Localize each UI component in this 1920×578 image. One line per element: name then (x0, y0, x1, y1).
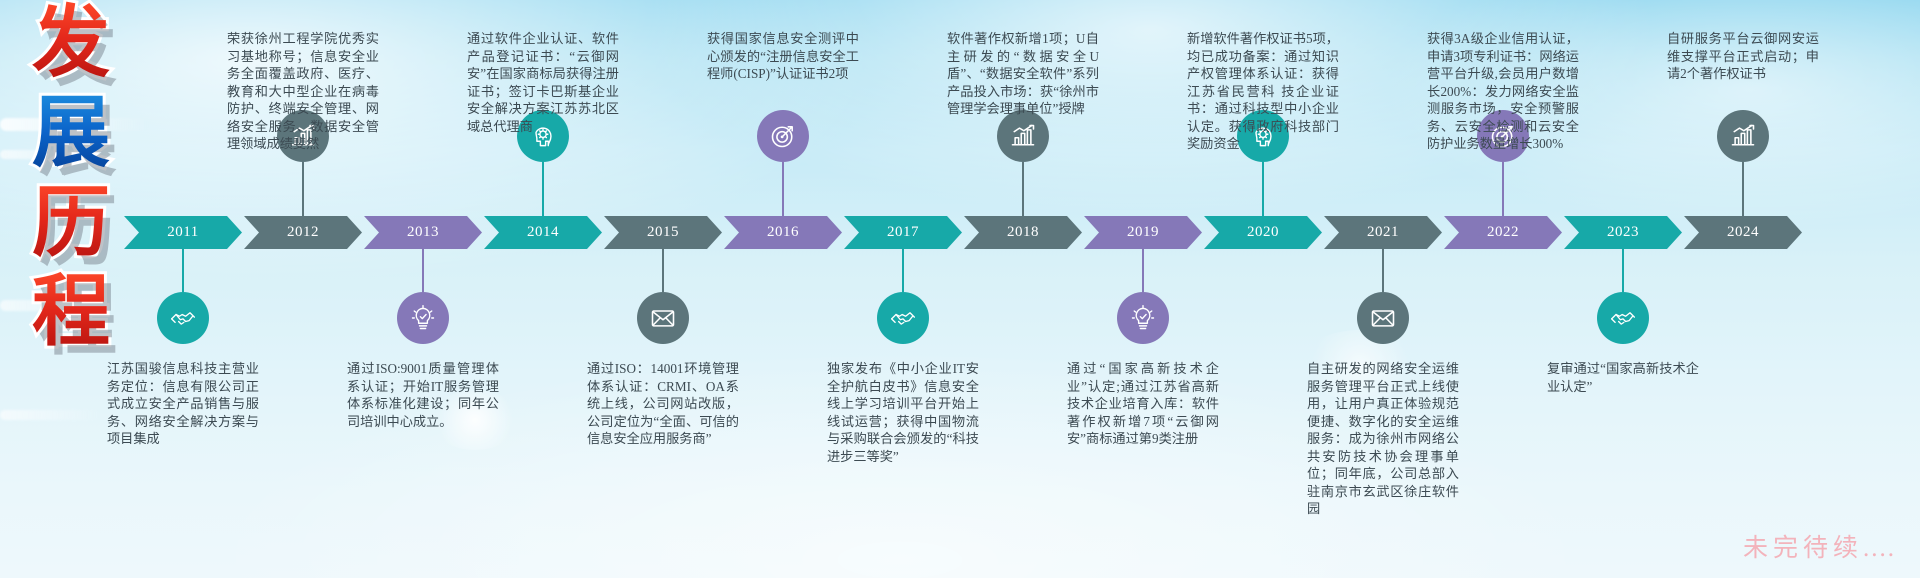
timeline-axis: 2011201220132014201520162017201820192020… (124, 216, 1804, 249)
node-connector-line (1262, 162, 1264, 216)
timeline-year-label: 2013 (407, 224, 439, 241)
node-connector-line (1742, 162, 1744, 216)
node-connector-line (662, 249, 664, 292)
node-connector-line (1502, 162, 1504, 216)
handshake-icon[interactable] (1597, 292, 1649, 344)
node-description: 复审通过“国家高新技术企业认定” (1547, 360, 1699, 395)
timeline-year-2014[interactable]: 2014 (484, 216, 602, 249)
node-description: 江苏国骏信息科技主营业务定位：信息有限公司正式成立安全产品销售与服务、网络安全解… (107, 360, 259, 448)
node-connector-line (1022, 162, 1024, 216)
timeline-year-label: 2011 (167, 224, 198, 241)
title-char-1: 展 (16, 98, 126, 170)
node-connector-line (1622, 249, 1624, 292)
node-description: 新增软件著作权证书5项，均已成功备案：通过知识产权管理体系认证：获得江苏省民营科… (1187, 30, 1339, 153)
timeline-year-label: 2014 (527, 224, 559, 241)
title-char-0: 发 (16, 8, 126, 80)
timeline-year-2015[interactable]: 2015 (604, 216, 722, 249)
node-description: 自研服务平台云御网安运维支撑平台正式启动；申请2个著作权证书 (1667, 30, 1819, 83)
timeline-year-2023[interactable]: 2023 (1564, 216, 1682, 249)
node-description: 获得3A级企业信用认证，申请3项专利证书：网络运营平台升级,会员用户数增长200… (1427, 30, 1579, 153)
timeline-year-2011[interactable]: 2011 (124, 216, 242, 249)
timeline-year-label: 2021 (1367, 224, 1399, 241)
timeline-year-label: 2018 (1007, 224, 1039, 241)
title-char-3: 程 (16, 277, 126, 349)
timeline-year-2024[interactable]: 2024 (1684, 216, 1802, 249)
node-description: 通过软件企业认证、软件产品登记证书：“云御网安”在国家商标局获得注册证书；签订卡… (467, 30, 619, 135)
node-connector-line (302, 162, 304, 216)
timeline-year-2021[interactable]: 2021 (1324, 216, 1442, 249)
envelope-icon[interactable] (1357, 292, 1409, 344)
node-connector-line (182, 249, 184, 292)
node-description: 荣获徐州工程学院优秀实习基地称号；信息安全业务全面覆盖政府、医疗、教育和大中型企… (227, 30, 379, 153)
watermark-text: 未完待续 (1743, 535, 1863, 562)
timeline-year-label: 2012 (287, 224, 319, 241)
node-connector-line (1142, 249, 1144, 292)
node-description: 独家发布《中小企业IT安全护航白皮书》信息安全线上学习培训平台开始上线试运营；获… (827, 360, 979, 465)
watermark-dots: .... (1863, 535, 1896, 562)
envelope-icon[interactable] (637, 292, 689, 344)
target-icon[interactable] (757, 110, 809, 162)
page-title: 发 展 历 程 (16, 8, 126, 367)
timeline-year-label: 2022 (1487, 224, 1519, 241)
timeline-year-label: 2016 (767, 224, 799, 241)
sky-streak-4 (0, 410, 100, 420)
timeline-year-2016[interactable]: 2016 (724, 216, 842, 249)
node-description: 自主研发的网络安全运维服务管理平台正式上线使用，让用户真正体验规范便捷、数字化的… (1307, 360, 1459, 518)
timeline-year-2018[interactable]: 2018 (964, 216, 1082, 249)
timeline-year-2020[interactable]: 2020 (1204, 216, 1322, 249)
title-char-2: 历 (16, 188, 126, 260)
timeline-year-2022[interactable]: 2022 (1444, 216, 1562, 249)
handshake-icon[interactable] (877, 292, 929, 344)
node-description: 通过ISO:9001质量管理体系认证；开始IT服务管理体系标准化建设；同年公司培… (347, 360, 499, 430)
handshake-icon[interactable] (157, 292, 209, 344)
timeline-year-label: 2024 (1727, 224, 1759, 241)
timeline-year-label: 2020 (1247, 224, 1279, 241)
lightbulb-check-icon[interactable] (1117, 292, 1169, 344)
timeline-year-2013[interactable]: 2013 (364, 216, 482, 249)
timeline-year-2012[interactable]: 2012 (244, 216, 362, 249)
timeline-year-label: 2023 (1607, 224, 1639, 241)
node-connector-line (422, 249, 424, 292)
node-description: 软件著作权新增1项；U自主研发的“数据安全U盾”、“数据安全软件”系列产品投入市… (947, 30, 1099, 118)
node-description: 获得国家信息安全测评中心颁发的“注册信息安全工程师(CISP)”认证证书2项 (707, 30, 859, 83)
watermark: 未完待续.... (1743, 528, 1896, 564)
bar-chart-icon[interactable] (1717, 110, 1769, 162)
node-description: 通过“国家高新技术企业”认定;通过江苏省高新技术企业培育入库：软件著作权新增7项… (1067, 360, 1219, 448)
node-connector-line (542, 162, 544, 216)
timeline-year-label: 2015 (647, 224, 679, 241)
lightbulb-check-icon[interactable] (397, 292, 449, 344)
timeline-year-2017[interactable]: 2017 (844, 216, 962, 249)
node-connector-line (902, 249, 904, 292)
timeline-year-label: 2019 (1127, 224, 1159, 241)
bar-chart-icon[interactable] (997, 110, 1049, 162)
timeline-year-label: 2017 (887, 224, 919, 241)
node-description: 通过ISO：14001环境管理体系认证：CRMI、OA系统上线，公司网站改版，公… (587, 360, 739, 448)
node-connector-line (1382, 249, 1384, 292)
timeline-year-2019[interactable]: 2019 (1084, 216, 1202, 249)
node-connector-line (782, 162, 784, 216)
